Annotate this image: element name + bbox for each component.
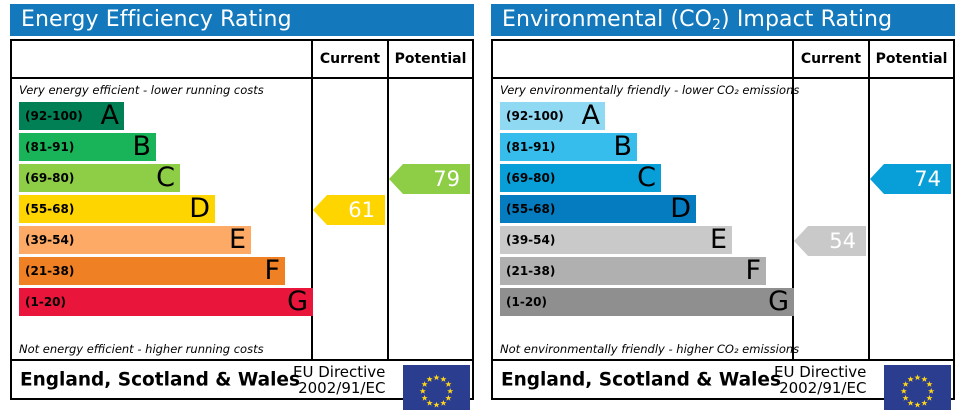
band-c: (69-80) C (500, 164, 661, 192)
table-header-row: Current Potential (493, 41, 953, 79)
band-range: (21-38) (25, 264, 74, 278)
potential-rating-value: 74 (914, 167, 941, 191)
band-letter: B (132, 133, 151, 160)
band-letter: A (101, 102, 119, 129)
eu-directive-label: EU Directive 2002/91/EC (293, 363, 385, 395)
column-header-potential-label: Potential (876, 51, 948, 67)
current-rating-value: 54 (829, 229, 856, 253)
band-range: (21-38) (506, 264, 555, 278)
chart-title-bar: Energy Efficiency Rating (10, 4, 474, 36)
potential-rating-arrow: 74 (870, 164, 951, 194)
band-letter: D (189, 195, 210, 222)
band-range: (92-100) (506, 109, 564, 123)
chart-title: Energy Efficiency Rating (21, 7, 292, 32)
band-letter: E (710, 226, 727, 253)
eu-directive-line2: 2002/91/EC (293, 380, 385, 396)
chart-title-rest: ) Impact Rating (721, 7, 892, 32)
eu-directive-line1: EU Directive (774, 363, 866, 379)
band-letter: A (582, 102, 600, 129)
band-range: (39-54) (506, 233, 555, 247)
column-divider-potential (387, 79, 389, 359)
band-letter: E (229, 226, 246, 253)
band-letter: F (264, 257, 280, 284)
chart-frame: Current Potential Very energy efficient … (10, 39, 474, 400)
column-header-current-label: Current (801, 51, 861, 67)
band-range: (55-68) (506, 202, 555, 216)
caption-bottom: Not energy efficient - higher running co… (19, 342, 264, 356)
band-letter: C (156, 164, 175, 191)
band-g: (1-20) G (19, 288, 313, 316)
potential-rating-arrow: 79 (389, 164, 470, 194)
band-d: (55-68) D (500, 195, 696, 223)
band-range: (39-54) (25, 233, 74, 247)
caption-bottom: Not environmentally friendly - higher CO… (500, 342, 799, 356)
band-a: (92-100) A (500, 102, 605, 130)
column-header-potential-label: Potential (395, 51, 467, 67)
epc-rating-page: Energy Efficiency Rating Current Potenti… (0, 0, 957, 404)
column-header-current: Current (311, 41, 387, 77)
chart-title-subscript: 2 (712, 17, 721, 33)
caption-top: Very environmentally friendly - lower CO… (500, 83, 799, 97)
band-list: (92-100) A (81-91) B (69-80) C (55-68) D (19, 102, 313, 319)
current-rating-arrow: 54 (794, 226, 866, 256)
current-rating-value: 61 (348, 198, 375, 222)
region-label: England, Scotland & Wales (20, 369, 300, 390)
band-range: (81-91) (506, 140, 555, 154)
band-letter: B (613, 133, 632, 160)
column-header-current-label: Current (320, 51, 380, 67)
chart-footer: England, Scotland & Wales EU Directive 2… (12, 361, 472, 398)
eu-flag-icon (884, 365, 951, 410)
band-e: (39-54) E (19, 226, 251, 254)
band-letter: G (287, 288, 308, 315)
band-range: (69-80) (506, 171, 555, 185)
band-f: (21-38) F (19, 257, 285, 285)
column-divider-potential (868, 79, 870, 359)
chart-body: Very energy efficient - lower running co… (12, 79, 472, 361)
potential-rating-value: 79 (433, 167, 460, 191)
band-range: (81-91) (25, 140, 74, 154)
band-a: (92-100) A (19, 102, 124, 130)
band-range: (92-100) (25, 109, 83, 123)
band-range: (55-68) (25, 202, 74, 216)
band-g: (1-20) G (500, 288, 794, 316)
band-b: (81-91) B (500, 133, 637, 161)
chart-frame: Current Potential Very environmentally f… (491, 39, 955, 400)
eu-directive-line1: EU Directive (293, 363, 385, 379)
eu-flag-icon (403, 365, 470, 410)
band-e: (39-54) E (500, 226, 732, 254)
environmental-impact-rating-chart: Environmental (CO2) Impact Rating Curren… (481, 0, 955, 404)
band-list: (92-100) A (81-91) B (69-80) C (55-68) D (500, 102, 794, 319)
energy-efficiency-rating-chart: Energy Efficiency Rating Current Potenti… (0, 0, 474, 404)
chart-title: Environmental (CO (502, 7, 712, 32)
chart-body: Very environmentally friendly - lower CO… (493, 79, 953, 361)
eu-directive-label: EU Directive 2002/91/EC (774, 363, 866, 395)
column-header-current: Current (792, 41, 868, 77)
band-range: (1-20) (25, 295, 66, 309)
chart-footer: England, Scotland & Wales EU Directive 2… (493, 361, 953, 398)
band-range: (1-20) (506, 295, 547, 309)
band-letter: G (768, 288, 789, 315)
band-f: (21-38) F (500, 257, 766, 285)
caption-top: Very energy efficient - lower running co… (19, 83, 264, 97)
chart-title-bar: Environmental (CO2) Impact Rating (491, 4, 955, 36)
current-rating-arrow: 61 (313, 195, 385, 225)
band-b: (81-91) B (19, 133, 156, 161)
column-header-potential: Potential (868, 41, 953, 77)
region-label: England, Scotland & Wales (501, 369, 781, 390)
band-letter: D (670, 195, 691, 222)
band-c: (69-80) C (19, 164, 180, 192)
column-header-potential: Potential (387, 41, 472, 77)
band-d: (55-68) D (19, 195, 215, 223)
band-letter: C (637, 164, 656, 191)
band-letter: F (745, 257, 761, 284)
table-header-row: Current Potential (12, 41, 472, 79)
band-range: (69-80) (25, 171, 74, 185)
eu-directive-line2: 2002/91/EC (774, 380, 866, 396)
